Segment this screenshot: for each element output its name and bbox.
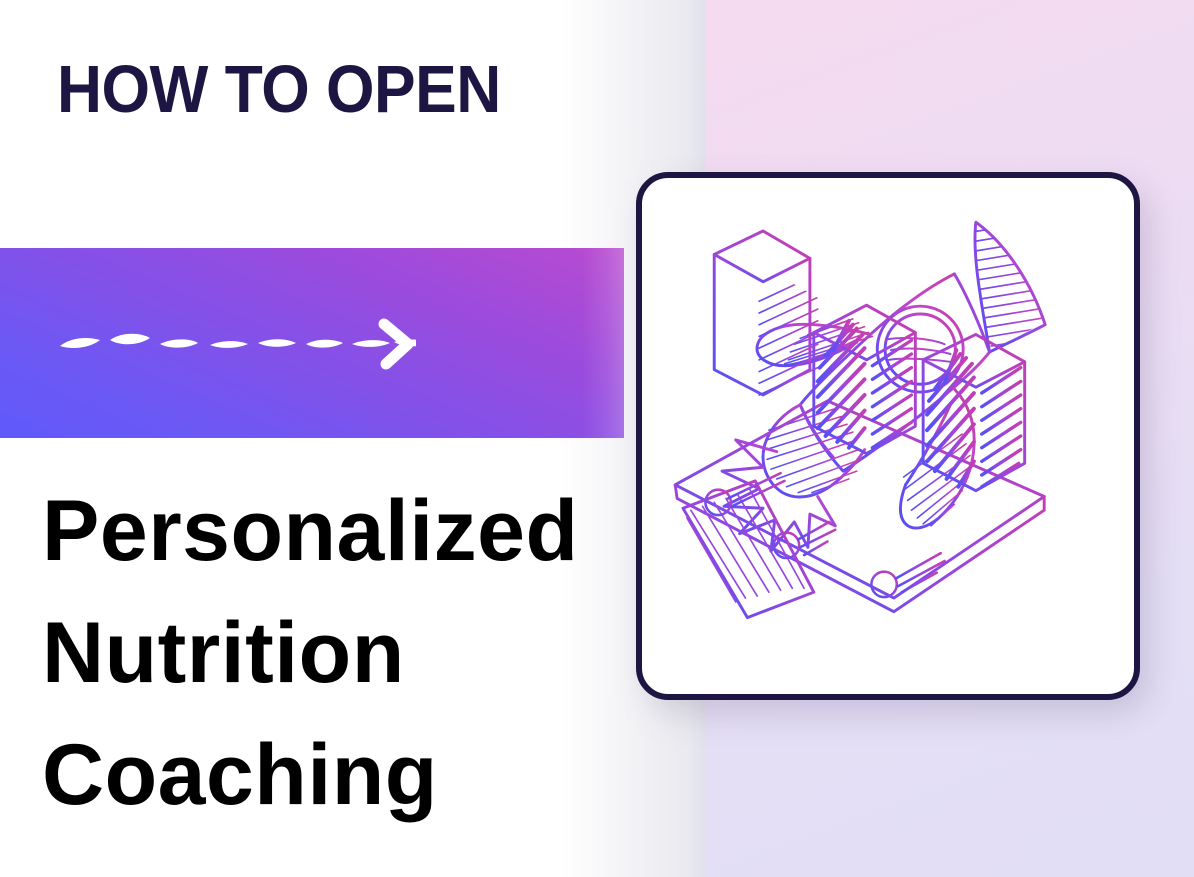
platform-wedge <box>683 481 814 618</box>
poster-canvas: HOW TO OPEN <box>0 0 1194 877</box>
rocket <box>722 217 1062 551</box>
isometric-bar-chart <box>675 231 1044 618</box>
illustration-card <box>636 172 1140 700</box>
rocket-and-bar-chart-sketch <box>642 178 1134 694</box>
bar-3 <box>923 334 1025 490</box>
dashed-arrow-icon <box>56 316 416 372</box>
page-title-line-2: Nutrition <box>42 592 602 714</box>
bar-1 <box>714 231 817 395</box>
page-kicker: HOW TO OPEN <box>57 56 501 123</box>
platform-scribble-marks <box>705 473 944 597</box>
page-title-line-1: Personalized <box>42 470 602 592</box>
page-title-line-3: Coaching <box>42 714 602 836</box>
band-fade-overlay <box>582 248 624 438</box>
page-title: Personalized Nutrition Coaching <box>42 470 602 836</box>
rocket-nose-cone <box>954 217 1061 352</box>
